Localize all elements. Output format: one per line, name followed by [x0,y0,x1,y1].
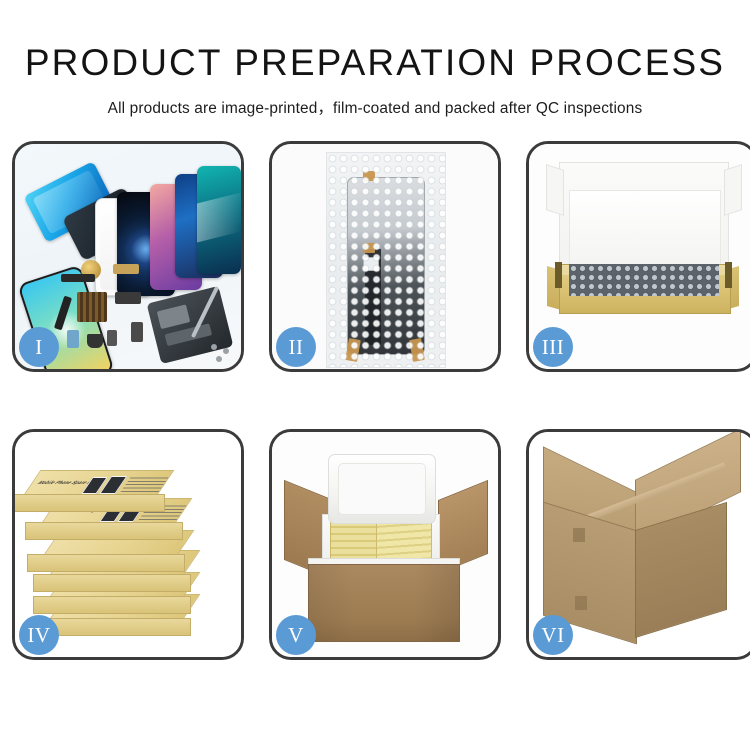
step-card-4: Mobile Phone Spare Parts Mobile Phone Sp… [12,429,244,660]
page-subtitle: All products are image-printed，film-coat… [0,96,750,118]
step-badge-3: III [533,327,573,367]
page-title: PRODUCT PREPARATION PROCESS [0,44,750,83]
step-badge-5: V [276,615,316,655]
step-card-1: I [12,141,244,372]
product-preparation-infographic: PRODUCT PREPARATION PROCESS All products… [0,0,750,750]
header: PRODUCT PREPARATION PROCESS All products… [0,0,750,118]
step-card-5: V [269,429,501,660]
step-badge-2: II [276,327,316,367]
step-badge-4: IV [19,615,59,655]
step-badge-1: I [19,327,59,367]
step-card-6: VI [526,429,750,660]
step-card-2: II [269,141,501,372]
step-badge-6: VI [533,615,573,655]
steps-grid: I II [12,141,738,660]
step-card-3: III [526,141,750,372]
